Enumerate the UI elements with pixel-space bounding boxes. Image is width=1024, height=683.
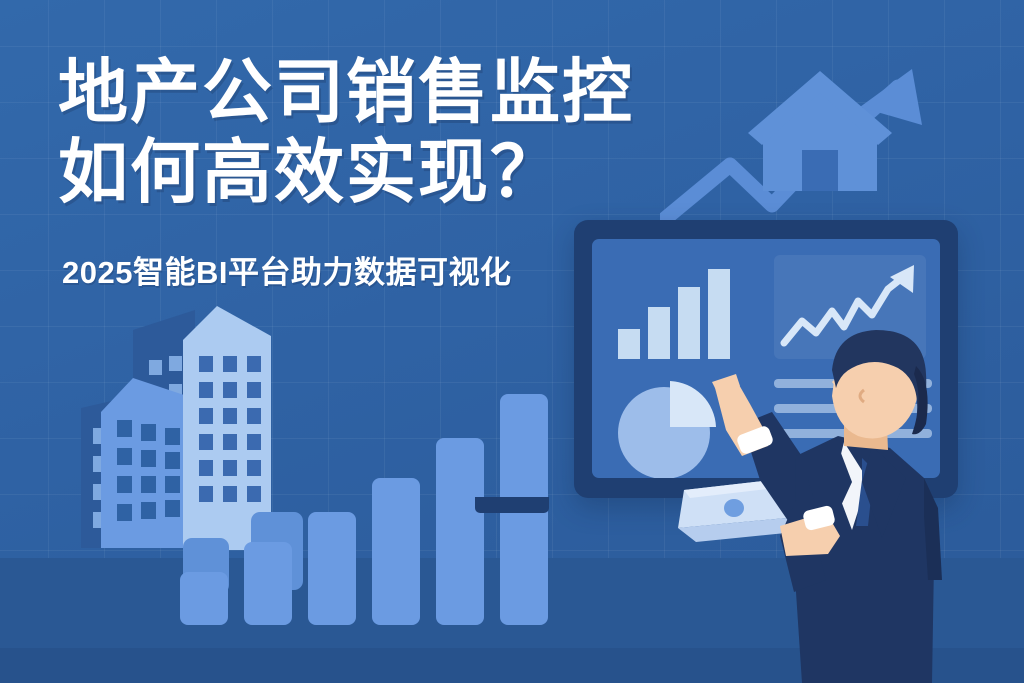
- headline-line-2: 如何高效实现？: [58, 132, 758, 212]
- bar-4: [372, 478, 420, 625]
- house-icon: [748, 71, 892, 191]
- poster-canvas: 地产公司销售监控 如何高效实现？ 2025智能BI平台助力数据可视化: [0, 0, 1024, 683]
- headline-line-1: 地产公司销售监控: [58, 52, 758, 132]
- bar-2: [244, 542, 292, 625]
- mini-bar-1: [618, 329, 640, 359]
- bar-5: [436, 438, 484, 625]
- page-title: 地产公司销售监控 如何高效实现？: [58, 52, 758, 212]
- businessman-illustration: [676, 330, 976, 683]
- bar-3: [308, 512, 356, 625]
- mini-bar-2: [648, 307, 670, 359]
- page-subtitle: 2025智能BI平台助力数据可视化: [62, 253, 511, 293]
- monitor-stand: [475, 497, 549, 513]
- bar-1: [180, 572, 228, 625]
